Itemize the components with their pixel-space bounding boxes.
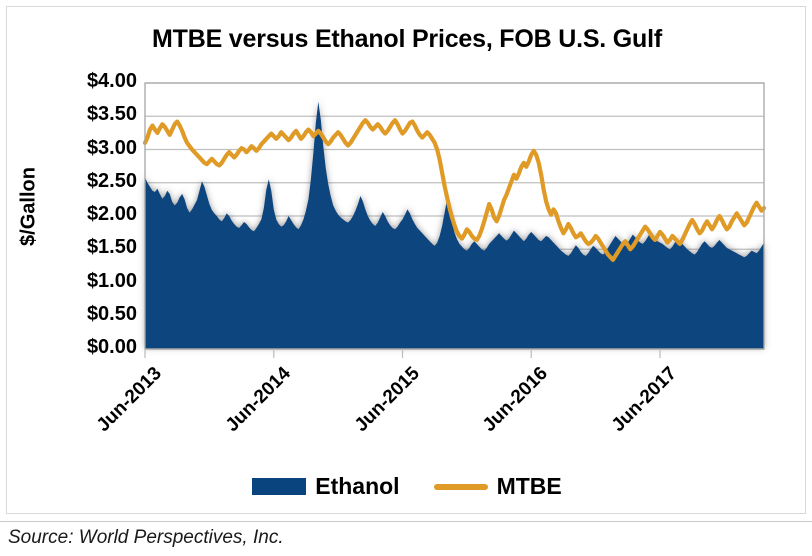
legend-label-mtbe: MTBE	[497, 473, 562, 500]
chart-legend: Ethanol MTBE	[7, 473, 807, 500]
legend-entry-ethanol[interactable]: Ethanol	[252, 473, 399, 500]
y-tick-label: $1.50	[25, 236, 137, 259]
y-tick-label: $4.00	[25, 70, 137, 93]
source-divider	[0, 521, 812, 522]
ethanol-swatch-icon	[252, 478, 306, 495]
y-tick-label: $3.00	[25, 137, 137, 160]
y-tick-label: $2.00	[25, 203, 137, 226]
source-note: Source: World Perspectives, Inc.	[8, 527, 284, 549]
y-tick-label: $3.50	[25, 103, 137, 126]
y-tick-label: $0.50	[25, 303, 137, 326]
y-tick-label: $2.50	[25, 170, 137, 193]
x-axis-ticks	[145, 349, 660, 358]
mtbe-swatch-icon	[434, 484, 488, 490]
legend-label-ethanol: Ethanol	[315, 473, 399, 500]
legend-entry-mtbe[interactable]: MTBE	[434, 473, 562, 500]
chart-card: MTBE versus Ethanol Prices, FOB U.S. Gul…	[6, 6, 806, 514]
y-tick-label: $0.00	[25, 336, 137, 359]
y-tick-label: $1.00	[25, 270, 137, 293]
chart-figure: MTBE versus Ethanol Prices, FOB U.S. Gul…	[0, 0, 812, 556]
